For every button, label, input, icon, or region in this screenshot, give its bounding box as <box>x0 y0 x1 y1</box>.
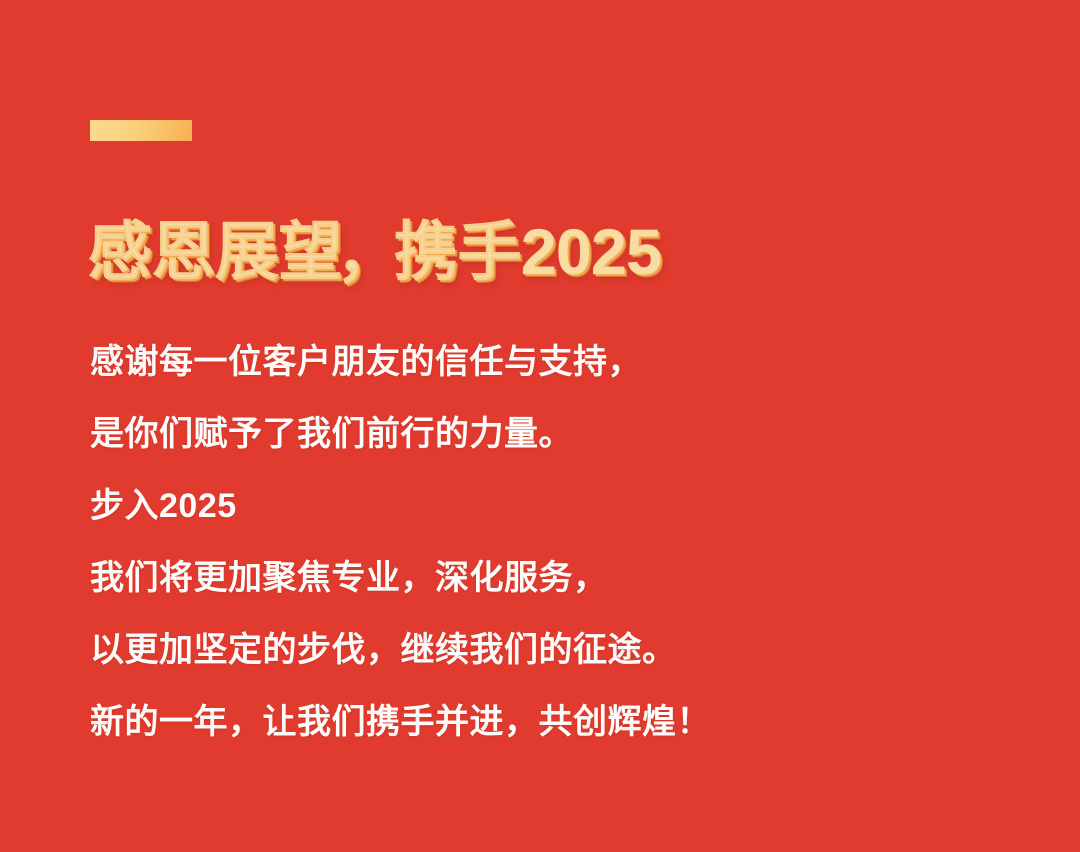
body-line: 感谢每一位客户朋友的信任与支持， <box>90 326 990 398</box>
body-line: 以更加坚定的步伐，继续我们的征途。 <box>90 614 990 686</box>
headline-part-one: 感恩展望 <box>88 216 342 288</box>
greeting-poster: 感恩展望，携手2025 感谢每一位客户朋友的信任与支持， 是你们赋予了我们前行的… <box>0 0 1080 852</box>
body-line: 我们将更加聚焦专业，深化服务， <box>90 542 990 614</box>
headline-part-two: 携手2025 <box>394 216 661 288</box>
body-line: 新的一年，让我们携手并进，共创辉煌！ <box>90 686 990 758</box>
headline-comma: ， <box>336 216 396 292</box>
decorative-gradient-bar <box>90 120 192 141</box>
body-copy: 感谢每一位客户朋友的信任与支持， 是你们赋予了我们前行的力量。 步入2025 我… <box>90 326 990 758</box>
body-line: 是你们赋予了我们前行的力量。 <box>90 398 990 470</box>
body-line: 步入2025 <box>90 470 990 542</box>
page-title: 感恩展望，携手2025 <box>88 214 661 290</box>
